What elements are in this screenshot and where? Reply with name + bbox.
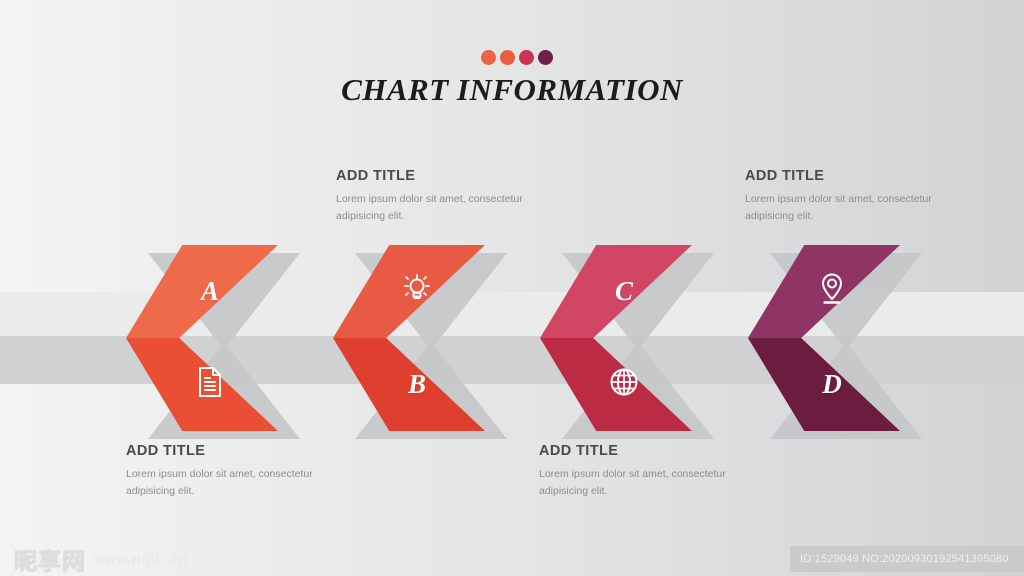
- header-dot-1: [481, 50, 496, 65]
- text-block-title: ADD TITLE: [539, 443, 744, 459]
- header-dots: [481, 50, 553, 65]
- text-block-body: Lorem ipsum dolor sit amet, consectetur …: [126, 466, 331, 501]
- chevron-step-b[interactable]: B: [333, 245, 485, 431]
- infographic-canvas: CHART INFORMATION A: [0, 0, 1024, 576]
- text-block-title: ADD TITLE: [336, 168, 541, 184]
- chevron-step-a[interactable]: A: [126, 245, 278, 431]
- text-block-1: ADD TITLE Lorem ipsum dolor sit amet, co…: [336, 168, 541, 226]
- watermark-id-bar: ID:1529049 NO:20200930192541395080: [790, 546, 1024, 572]
- text-block-title: ADD TITLE: [126, 443, 331, 459]
- text-block-2: ADD TITLE Lorem ipsum dolor sit amet, co…: [126, 443, 331, 501]
- text-block-body: Lorem ipsum dolor sit amet, consectetur …: [336, 191, 541, 226]
- header-dot-4: [538, 50, 553, 65]
- chevron-step-c[interactable]: C: [540, 245, 692, 431]
- watermark-url: www.nipic.cn: [94, 549, 188, 569]
- chevron-step-d[interactable]: D: [748, 245, 900, 431]
- header-dot-3: [519, 50, 534, 65]
- watermark-nipic: 昵享网 www.nipic.cn: [14, 542, 188, 576]
- watermark-chinese-logo: 昵享网: [14, 542, 86, 576]
- watermark-id-text: ID:1529049 NO:20200930192541395080: [790, 553, 1009, 565]
- text-block-title: ADD TITLE: [745, 168, 950, 184]
- text-block-4: ADD TITLE Lorem ipsum dolor sit amet, co…: [539, 443, 744, 501]
- text-block-body: Lorem ipsum dolor sit amet, consectetur …: [539, 466, 744, 501]
- text-block-3: ADD TITLE Lorem ipsum dolor sit amet, co…: [745, 168, 950, 226]
- header-dot-2: [500, 50, 515, 65]
- text-block-body: Lorem ipsum dolor sit amet, consectetur …: [745, 191, 950, 226]
- page-title: CHART INFORMATION: [0, 72, 1024, 108]
